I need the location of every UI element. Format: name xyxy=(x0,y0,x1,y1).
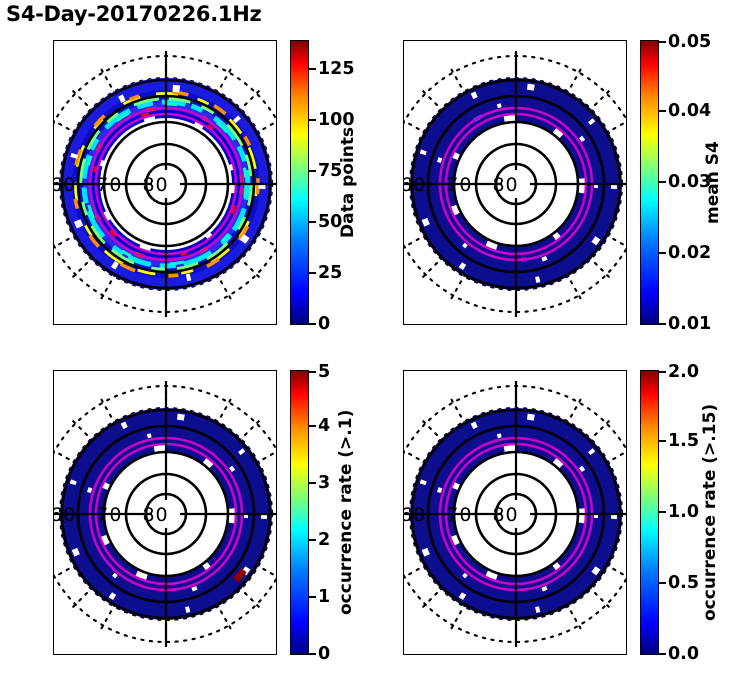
cb4-label-20: 2.0 xyxy=(668,362,699,382)
lat-tick-70: 70 xyxy=(96,174,122,196)
panel-top-right[interactable]: 60 70 80 xyxy=(403,40,627,325)
latitude-tick-labels-panel4: 60 70 80 xyxy=(404,504,519,526)
colorbar-3-title: occurrence rate (>.1) xyxy=(336,370,356,655)
cb2-tick-002 xyxy=(659,252,666,254)
cb4-tick-10 xyxy=(659,511,666,513)
latitude-tick-labels-panel3: 60 70 80 xyxy=(54,504,169,526)
cb1-tick-50 xyxy=(309,221,316,223)
panel-bottom-left-plot: 60 70 80 xyxy=(54,371,276,654)
latitude-tick-labels-panel1: 60 70 80 xyxy=(54,174,169,196)
colorbar-2-title: mean S4 xyxy=(703,40,723,325)
cb1-tick-125 xyxy=(309,68,316,70)
cb3-tick-1 xyxy=(309,596,316,598)
cb3-tick-4 xyxy=(309,425,316,427)
figure-canvas: S4-Day-20170226.1Hz xyxy=(0,0,731,674)
cb4-label-00: 0.0 xyxy=(668,644,699,664)
lat-tick-70: 70 xyxy=(96,504,122,526)
lat-tick-80: 80 xyxy=(142,504,168,526)
panel-top-left[interactable]: 60 70 80 xyxy=(53,40,277,325)
panel-bottom-left[interactable]: 60 70 80 xyxy=(53,370,277,655)
cb3-label-4: 4 xyxy=(318,416,330,436)
cb2-tick-001 xyxy=(659,323,666,325)
lat-tick-80: 80 xyxy=(492,504,518,526)
cb3-label-5: 5 xyxy=(318,362,330,382)
cb2-tick-004 xyxy=(659,110,666,112)
cb4-label-10: 1.0 xyxy=(668,502,699,522)
cb3-tick-3 xyxy=(309,482,316,484)
panel-top-left-plot: 60 70 80 xyxy=(54,41,276,324)
lat-tick-60: 60 xyxy=(54,174,76,196)
colorbar-occurrence-01[interactable] xyxy=(290,370,309,655)
colorbar-data-points[interactable] xyxy=(290,40,309,325)
cb3-tick-2 xyxy=(309,539,316,541)
cb4-label-15: 1.5 xyxy=(668,431,699,451)
cb2-tick-003 xyxy=(659,181,666,183)
cb1-tick-25 xyxy=(309,272,316,274)
colorbar-4-title: occurrence rate (>.15) xyxy=(700,370,720,655)
cb1-tick-0 xyxy=(309,323,316,325)
lat-tick-70: 70 xyxy=(446,504,472,526)
lat-tick-60: 60 xyxy=(404,504,426,526)
figure-title: S4-Day-20170226.1Hz xyxy=(6,2,261,26)
cb4-label-05: 0.5 xyxy=(668,573,699,593)
panel-bottom-right[interactable]: 60 70 80 xyxy=(403,370,627,655)
lat-tick-80: 80 xyxy=(142,174,168,196)
lat-tick-80: 80 xyxy=(492,174,518,196)
cb3-label-2: 2 xyxy=(318,530,330,550)
colorbar-mean-s4[interactable] xyxy=(640,40,659,325)
cb2-tick-005 xyxy=(659,41,666,43)
cb3-label-0: 0 xyxy=(318,644,330,664)
cb4-tick-00 xyxy=(659,653,666,655)
panel-bottom-right-plot: 60 70 80 xyxy=(404,371,626,654)
cb4-tick-20 xyxy=(659,371,666,373)
latitude-tick-labels-panel2: 60 70 80 xyxy=(404,174,519,196)
colorbar-4-ticks: 0.0 0.5 1.0 1.5 2.0 xyxy=(659,370,731,655)
lat-tick-70: 70 xyxy=(446,174,472,196)
cb3-label-1: 1 xyxy=(318,587,330,607)
lat-tick-60: 60 xyxy=(404,174,426,196)
cb4-tick-05 xyxy=(659,582,666,584)
cb4-tick-15 xyxy=(659,440,666,442)
colorbar-1-title: Data points xyxy=(338,40,358,325)
cb3-tick-5 xyxy=(309,371,316,373)
cb1-tick-75 xyxy=(309,170,316,172)
cb3-tick-0 xyxy=(309,653,316,655)
colorbar-occurrence-015[interactable] xyxy=(640,370,659,655)
cb1-tick-100 xyxy=(309,119,316,121)
panel-top-right-plot: 60 70 80 xyxy=(404,41,626,324)
cb1-label-0: 0 xyxy=(318,314,330,334)
cb3-label-3: 3 xyxy=(318,473,330,493)
lat-tick-60: 60 xyxy=(54,504,76,526)
